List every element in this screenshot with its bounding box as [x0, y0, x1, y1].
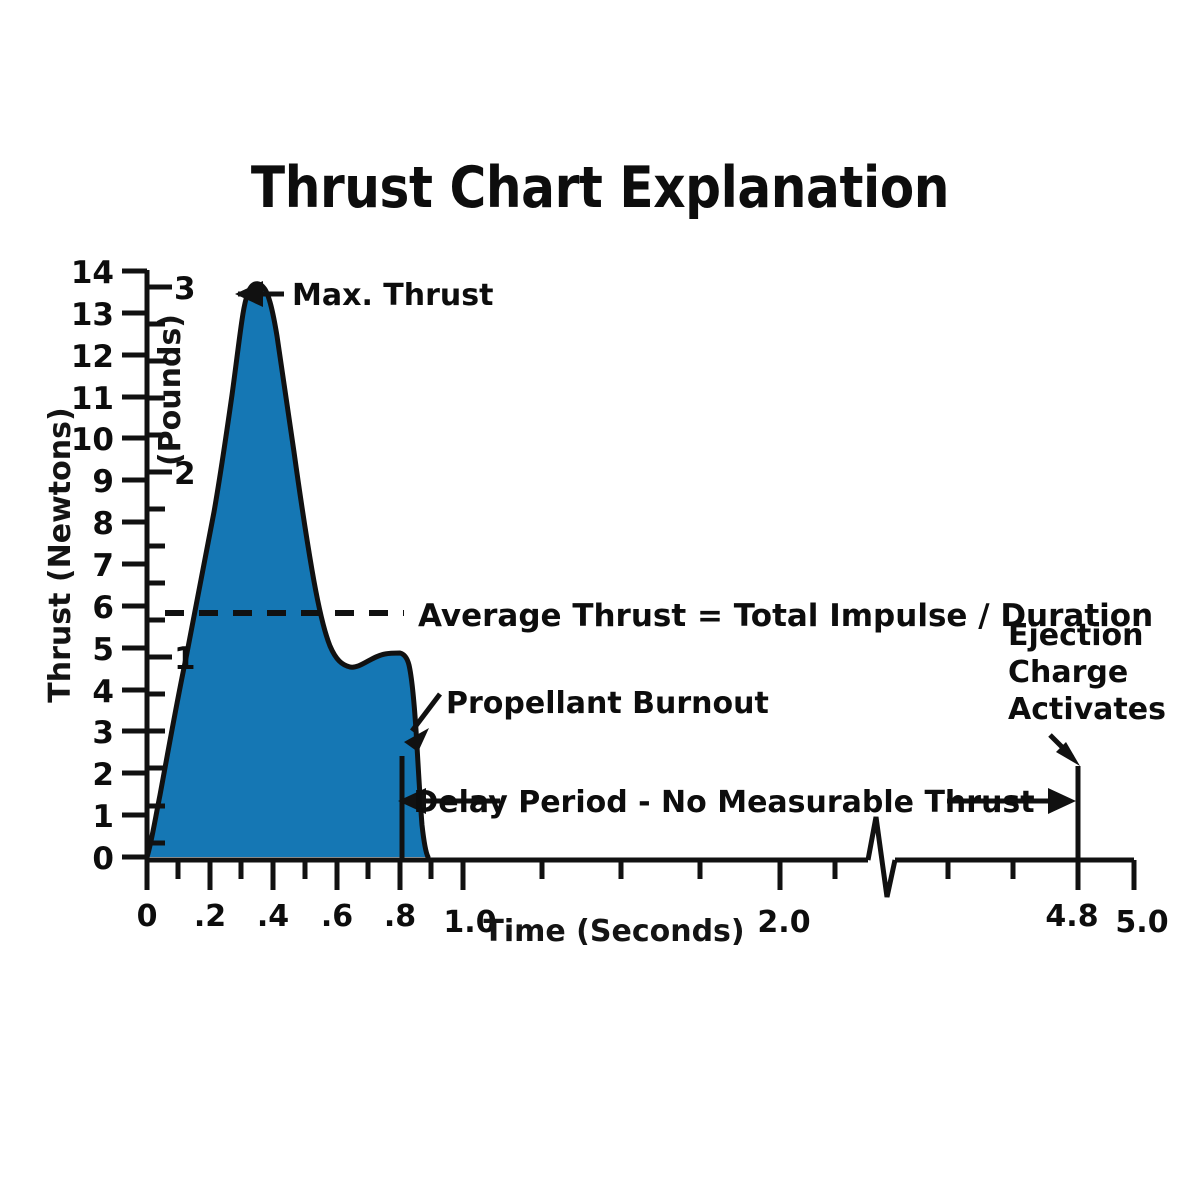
x-tick-08: .8	[384, 899, 416, 934]
ejection-charge-label-line1: Ejection	[1008, 618, 1144, 653]
y-tick-newton-12: 12	[71, 339, 114, 375]
y-tick-pound-3: 3	[174, 271, 196, 307]
x-axis-break-zigzag	[868, 817, 895, 897]
x-tick-0: 0	[137, 899, 158, 934]
ejection-charge-label-line2: Charge	[1008, 655, 1128, 690]
y-tick-newton-7: 7	[92, 548, 114, 584]
thrust-curve-area	[147, 284, 428, 857]
y-tick-newton-6: 6	[92, 590, 114, 626]
x-tick-50: 5.0	[1115, 905, 1168, 940]
propellant-burnout-label: Propellant Burnout	[446, 686, 769, 721]
y-axis-left-title: Thrust (Newtons)	[43, 407, 78, 702]
y-tick-newton-0: 0	[92, 841, 114, 877]
x-tick-02: .2	[194, 899, 226, 934]
delay-period-label: Delay Period - No Measurable Thrust	[413, 785, 1034, 820]
x-tick-06: .6	[321, 899, 353, 934]
y-tick-newton-1: 1	[92, 799, 114, 835]
x-axis-title: Time (Seconds)	[483, 914, 744, 949]
thrust-curve-fill	[147, 284, 428, 857]
x-axis-minor-ticks	[178, 860, 1013, 879]
delay-period-annotation: Delay Period - No Measurable Thrust	[398, 785, 1076, 820]
y-tick-newton-14: 14	[71, 255, 114, 291]
y-tick-newton-9: 9	[92, 464, 114, 500]
thrust-chart-figure: 0 1 2 3 4 5 6 7 8 9 10 11 12 13 14 1 2 3…	[0, 0, 1200, 1200]
y-tick-pound-1: 1	[174, 641, 196, 677]
y-tick-newton-13: 13	[71, 297, 114, 333]
y-axis-newton-ticks	[122, 271, 147, 857]
y-tick-newton-4: 4	[92, 674, 114, 710]
x-tick-04: .4	[257, 899, 289, 934]
y-axis-right-title: (Pounds)	[153, 314, 188, 466]
y-tick-newton-5: 5	[92, 632, 114, 668]
y-tick-newton-2: 2	[92, 757, 114, 793]
propellant-burnout-annotation: Propellant Burnout	[402, 686, 769, 858]
y-tick-newton-3: 3	[92, 715, 114, 751]
y-tick-newton-8: 8	[92, 506, 114, 542]
max-thrust-label: Max. Thrust	[292, 278, 493, 313]
x-tick-48: 4.8	[1045, 899, 1098, 934]
delay-arrow-head-right	[1048, 788, 1076, 814]
x-tick-20: 2.0	[757, 905, 810, 940]
ejection-charge-label-line3: Activates	[1008, 692, 1166, 727]
thrust-chart-page: Thrust Chart Explanation	[0, 0, 1200, 1200]
x-axis-major-ticks	[147, 860, 1134, 890]
ejection-charge-annotation: Ejection Charge Activates	[1008, 618, 1166, 858]
